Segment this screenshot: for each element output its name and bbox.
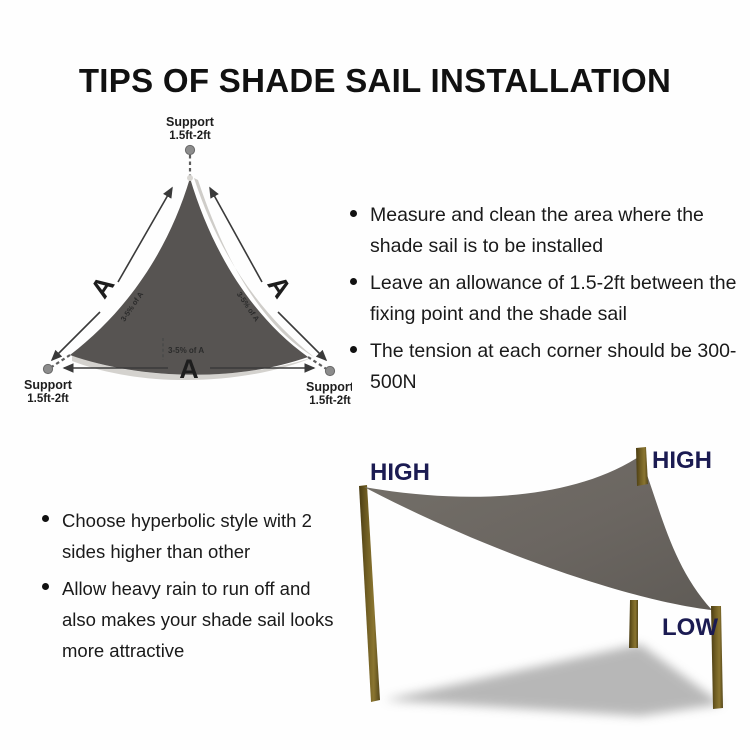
post-left [359, 485, 380, 702]
label-low: LOW [662, 614, 718, 641]
tips-list-top: Measure and clean the area where the sha… [348, 200, 740, 404]
label-high-right: HIGH [652, 447, 712, 474]
tip-item: Allow heavy rain to run off and also mak… [40, 573, 340, 666]
post-right-high [636, 447, 648, 486]
bottom-right-support-spacing: 1.5ft-2ft [309, 395, 351, 407]
tips-list-bottom: Choose hyperbolic style with 2 sides hig… [40, 505, 340, 672]
triangle-sail-diagram: Support 1.5ft-2ft Support 1.5ft-2ft Supp… [22, 112, 352, 412]
tip-item: The tension at each corner should be 300… [348, 336, 740, 398]
ground-shadow [384, 644, 722, 716]
left-side-measure-label: A [85, 270, 121, 303]
top-corner-dot [187, 175, 193, 181]
bottom-left-anchor-dot [43, 364, 52, 373]
bottom-left-support-spacing: 1.5ft-2ft [27, 393, 69, 405]
tip-item: Leave an allowance of 1.5-2ft between th… [348, 268, 740, 330]
hyperbolic-sail-diagram: HIGH HIGH LOW [340, 428, 750, 750]
label-high-left: HIGH [370, 459, 430, 486]
page-title: TIPS OF SHADE SAIL INSTALLATION [0, 62, 750, 100]
tip-item: Measure and clean the area where the sha… [348, 200, 740, 262]
bottom-left-support-dashed-line [50, 355, 70, 368]
bottom-right-support-label: Support [306, 380, 352, 394]
infographic-page: TIPS OF SHADE SAIL INSTALLATION Support … [0, 0, 750, 750]
bottom-left-support-label: Support [24, 378, 73, 392]
bottom-right-anchor-dot [325, 366, 334, 375]
top-anchor-dot [185, 145, 194, 154]
triangle-sail-svg: Support 1.5ft-2ft Support 1.5ft-2ft Supp… [22, 112, 352, 412]
bottom-side-measure-label: A [179, 354, 199, 384]
top-support-spacing: 1.5ft-2ft [169, 130, 211, 142]
hyperbolic-sail-svg: HIGH HIGH LOW [340, 428, 750, 750]
right-side-measure-label: A [262, 270, 298, 303]
bottom-curve-label: 3-5% of A [168, 346, 204, 355]
top-support-label: Support [166, 115, 215, 129]
tip-item: Choose hyperbolic style with 2 sides hig… [40, 505, 340, 567]
post-middle [629, 600, 638, 648]
